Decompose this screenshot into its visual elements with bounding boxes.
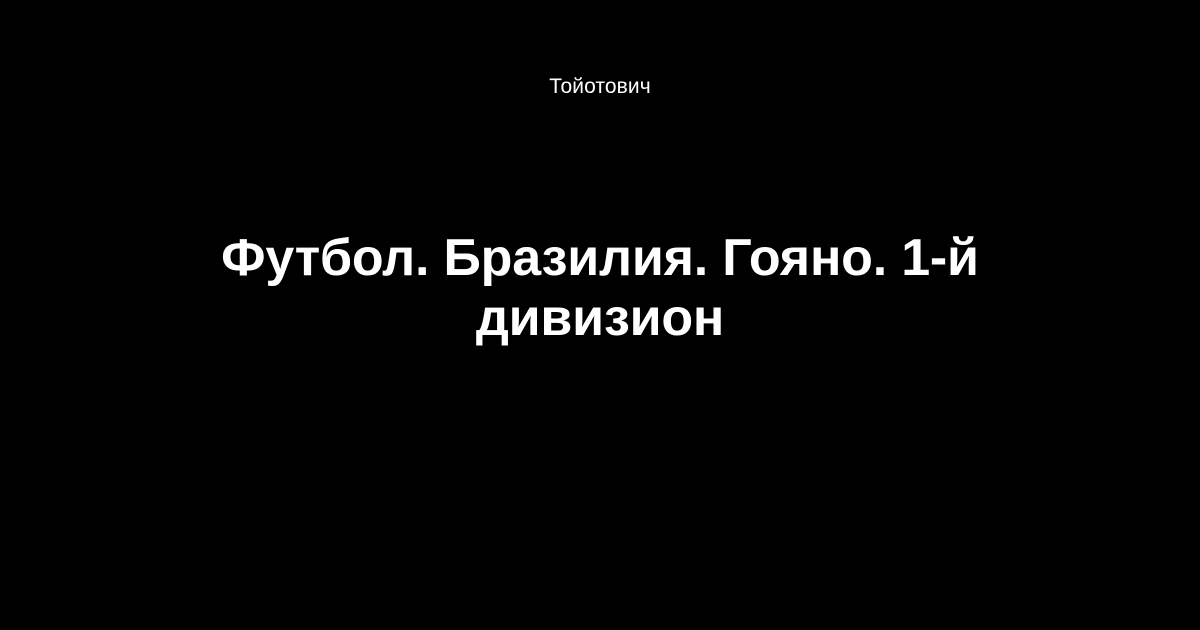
site-name-row: Тойотович <box>0 74 1200 102</box>
site-name: Тойотович <box>549 74 651 100</box>
page-title: Футбол. Бразилия. Гояно. 1-й дивизион <box>200 228 1000 348</box>
headline-container: Футбол. Бразилия. Гояно. 1-й дивизион <box>200 228 1000 348</box>
preview-card: Тойотович Футбол. Бразилия. Гояно. 1-й д… <box>0 0 1200 630</box>
